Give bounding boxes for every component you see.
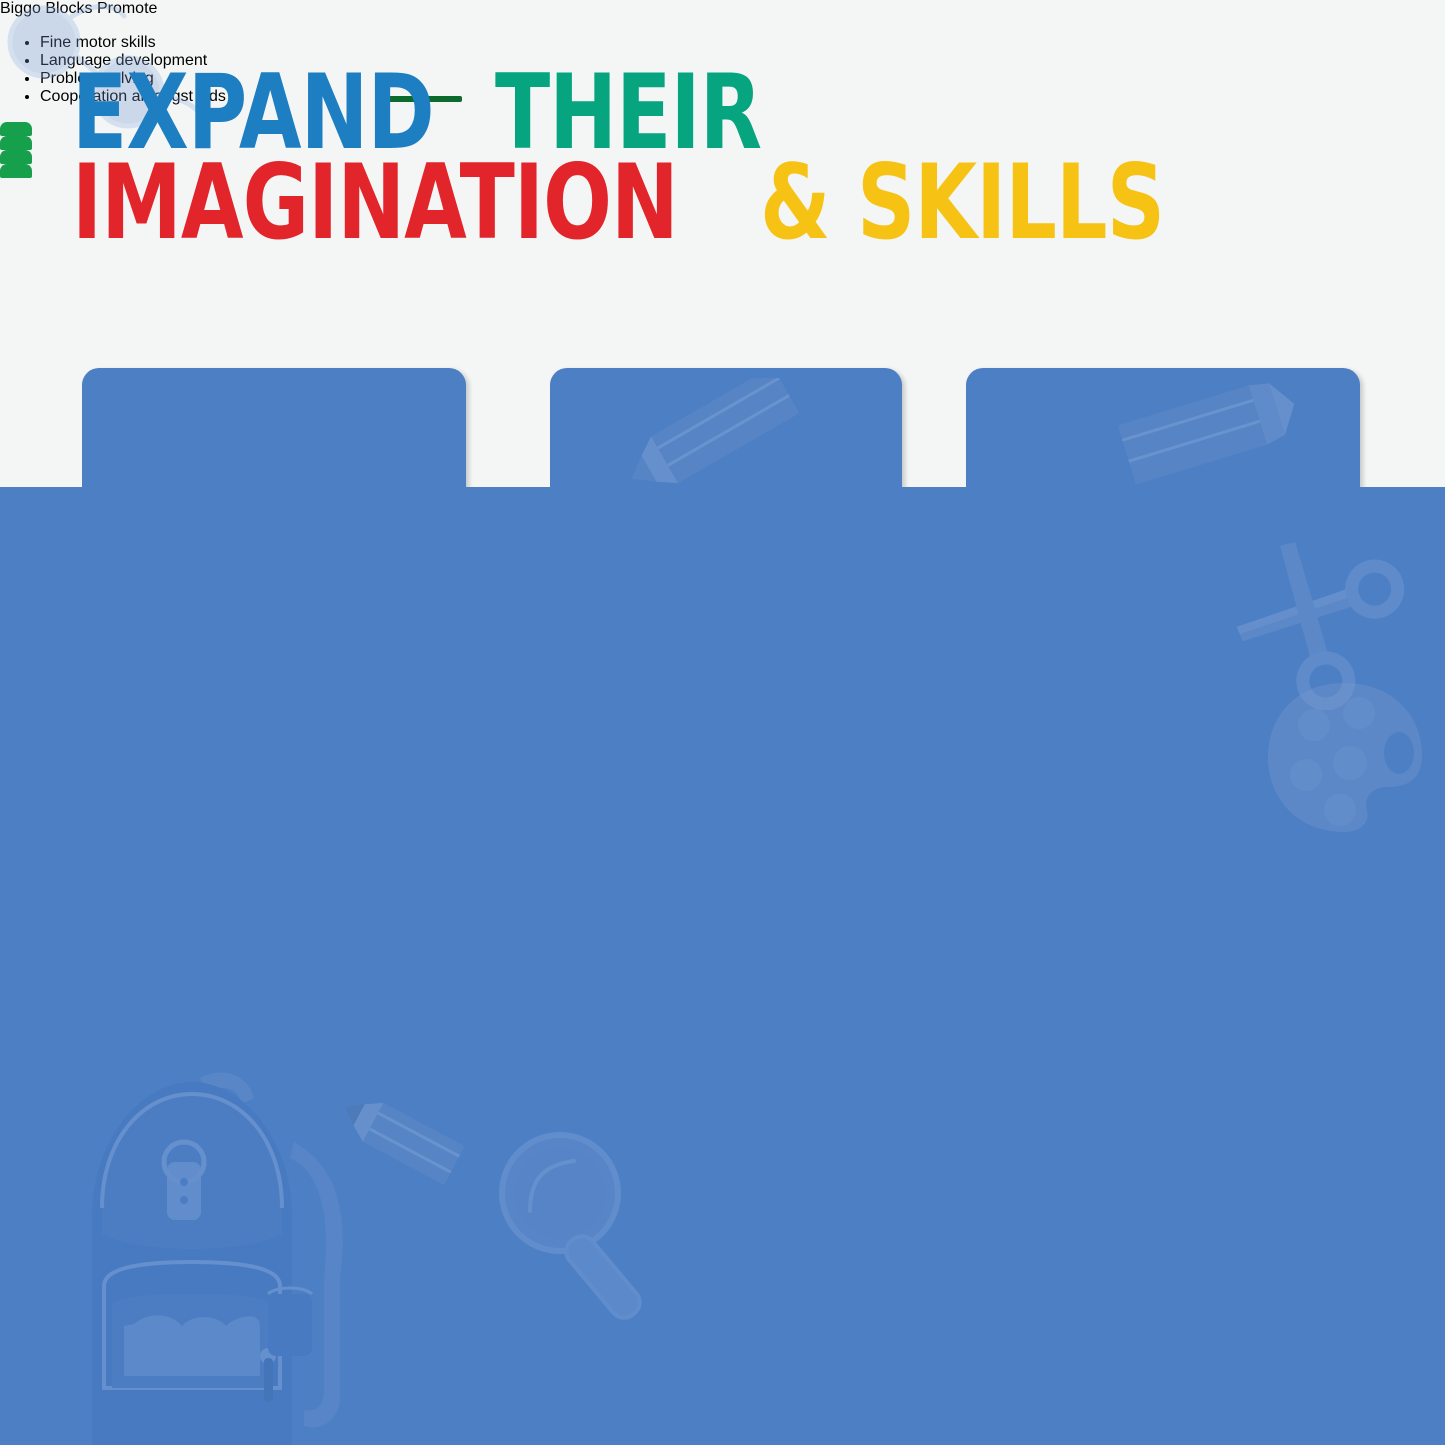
headline: EXPAND THEIR IMAGINATION & SKILLS <box>72 78 1332 253</box>
tab-left <box>82 368 466 503</box>
poster-root: EXPAND THEIR IMAGINATION & SKILLS Biggo … <box>0 0 1445 1445</box>
panel-body <box>0 487 1445 1445</box>
copy-heading-line-2: Promote <box>97 0 157 17</box>
headline-word-imagination: IMAGINATION <box>72 153 678 253</box>
blue-panel <box>0 360 1445 1445</box>
headline-word-and-skills: & SKILLS <box>760 153 1164 253</box>
headline-line-2: IMAGINATION & SKILLS <box>72 168 1332 252</box>
tab-right <box>966 368 1360 503</box>
copy-heading-line-1: Biggo Blocks <box>0 0 93 17</box>
copy-heading: Biggo Blocks Promote <box>0 0 1445 18</box>
list-item: Fine motor skills <box>40 34 1445 52</box>
tab-center <box>550 368 902 503</box>
